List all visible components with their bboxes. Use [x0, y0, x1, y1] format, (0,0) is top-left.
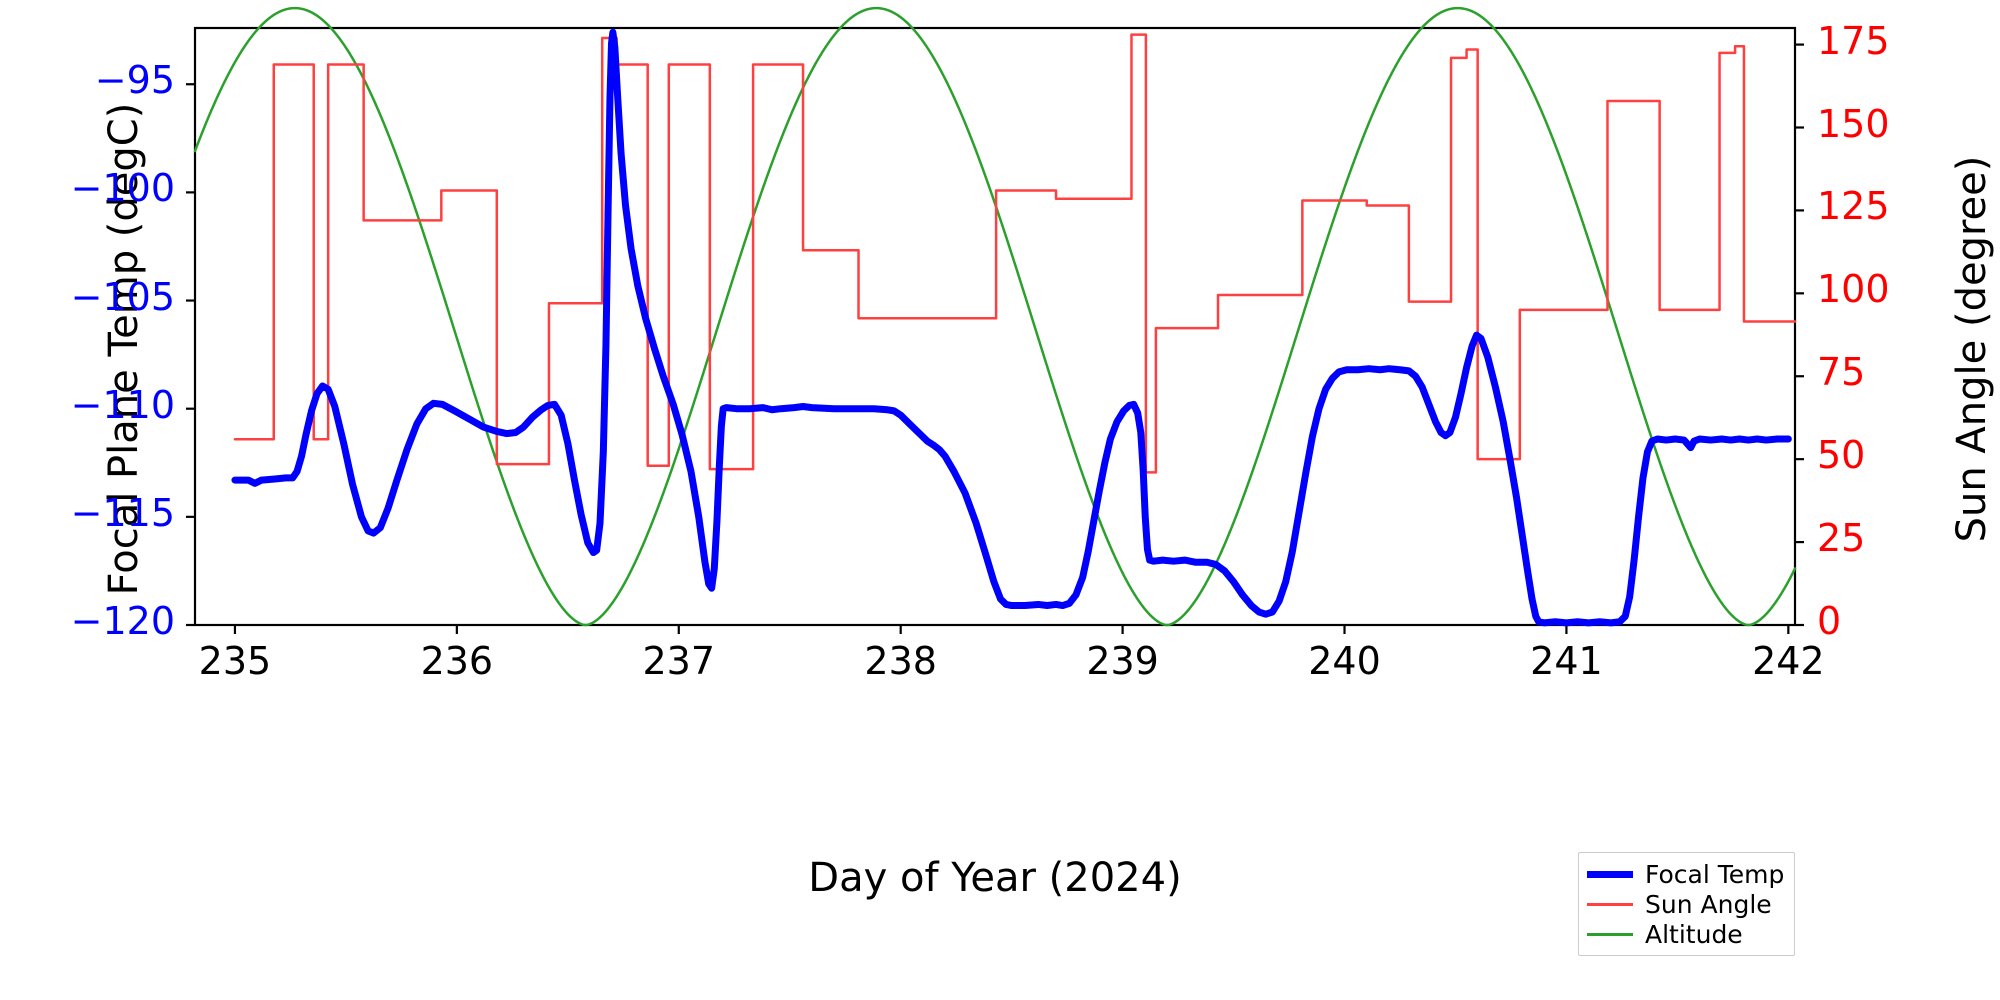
axes-frame — [186, 28, 1804, 634]
legend-label: Sun Angle — [1645, 892, 1772, 917]
focal-temp-line — [235, 32, 1788, 623]
y-tick-right-175: 175 — [1817, 19, 1937, 63]
x-tick-235: 235 — [165, 639, 305, 683]
legend-swatch-icon — [1587, 933, 1633, 936]
y-tick-right-25: 25 — [1817, 516, 1937, 560]
legend-item-focal-temp[interactable]: Focal Temp — [1587, 859, 1784, 889]
legend[interactable]: Focal TempSun AngleAltitude — [1578, 852, 1795, 956]
x-tick-240: 240 — [1275, 639, 1415, 683]
x-tick-241: 241 — [1496, 639, 1636, 683]
legend-label: Focal Temp — [1645, 862, 1784, 887]
y-tick-right-150: 150 — [1817, 102, 1937, 146]
y-axis-label-right: Sun Angle (degree) — [1949, 29, 1995, 669]
x-tick-242: 242 — [1718, 639, 1858, 683]
y-tick-left--115: −115 — [0, 491, 175, 535]
sun-angle-line — [235, 35, 1795, 473]
y-tick-right-50: 50 — [1817, 433, 1937, 477]
x-tick-239: 239 — [1053, 639, 1193, 683]
series-focal-temp — [235, 32, 1788, 623]
y-tick-left--100: −100 — [0, 166, 175, 210]
legend-item-sun-angle[interactable]: Sun Angle — [1587, 889, 1784, 919]
figure-canvas: Focal Plane Temp (degC) Sun Angle (degre… — [0, 0, 2000, 1000]
y-tick-left--105: −105 — [0, 275, 175, 319]
y-tick-right-0: 0 — [1817, 599, 1937, 643]
x-axis-label: Day of Year (2024) — [195, 855, 1795, 901]
y-tick-right-100: 100 — [1817, 267, 1937, 311]
y-tick-left--110: −110 — [0, 383, 175, 427]
legend-label: Altitude — [1645, 922, 1743, 947]
y-tick-right-75: 75 — [1817, 350, 1937, 394]
legend-swatch-icon — [1587, 871, 1633, 878]
plot-area — [0, 0, 2000, 1000]
y-tick-right-125: 125 — [1817, 184, 1937, 228]
legend-swatch-icon — [1587, 903, 1633, 906]
series-sun-angle — [235, 35, 1795, 473]
y-tick-left--120: −120 — [0, 599, 175, 643]
y-tick-left--95: −95 — [0, 58, 175, 102]
x-tick-238: 238 — [831, 639, 971, 683]
legend-item-altitude[interactable]: Altitude — [1587, 919, 1784, 949]
x-tick-237: 237 — [609, 639, 749, 683]
y-axis-label-left: Focal Plane Temp (degC) — [101, 29, 147, 669]
x-tick-236: 236 — [387, 639, 527, 683]
